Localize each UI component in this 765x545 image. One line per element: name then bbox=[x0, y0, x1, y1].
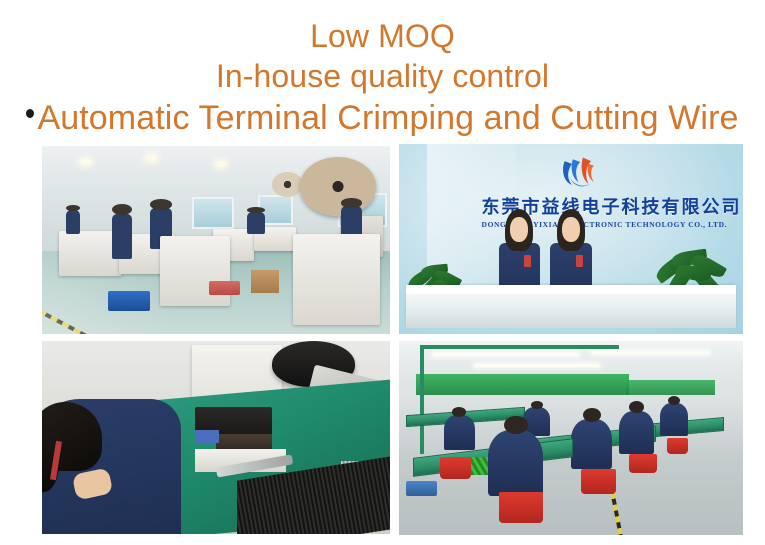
green-shelf-panel bbox=[416, 374, 629, 395]
fluorescent-tube bbox=[475, 364, 599, 367]
assembly-worker bbox=[619, 411, 653, 454]
ceiling-lamp-icon bbox=[80, 159, 90, 165]
photo-factory-machine-workshop bbox=[42, 146, 390, 334]
worker-head bbox=[583, 408, 601, 422]
red-stool bbox=[629, 454, 657, 473]
worker-head bbox=[668, 396, 680, 405]
blue-parts-bin bbox=[108, 291, 150, 312]
worker-head bbox=[629, 401, 644, 413]
red-stool bbox=[667, 438, 688, 454]
slide-root: Low MOQ In-house quality control Automat… bbox=[0, 0, 765, 545]
name-badge bbox=[576, 255, 583, 266]
worker-head bbox=[531, 401, 543, 409]
wire-reel bbox=[272, 172, 303, 196]
worker-operator bbox=[42, 399, 181, 534]
worker-head bbox=[452, 407, 466, 417]
window bbox=[192, 197, 234, 229]
assembly-worker bbox=[571, 419, 612, 469]
wire-reel bbox=[300, 157, 377, 215]
red-stool bbox=[499, 492, 544, 523]
scene-reception: 东莞市益线电子科技有限公司 DONGGUAN YIXIAN ELECTRONIC… bbox=[399, 144, 743, 334]
blue-parts-bin bbox=[406, 481, 437, 497]
worker-head bbox=[504, 416, 528, 434]
counter-top-edge bbox=[406, 285, 736, 295]
red-stool bbox=[581, 469, 615, 494]
worker bbox=[112, 214, 133, 259]
scene-assembly-line bbox=[399, 341, 743, 535]
scene-workshop bbox=[42, 146, 390, 334]
ceiling-lamp-icon bbox=[216, 161, 226, 167]
worker-head bbox=[341, 198, 362, 207]
blue-connector bbox=[195, 430, 219, 444]
bench-frame-rail bbox=[420, 345, 620, 349]
reception-counter bbox=[406, 285, 736, 329]
company-logo-icon bbox=[550, 152, 608, 198]
worker bbox=[66, 210, 80, 234]
assembly-worker bbox=[660, 403, 688, 436]
red-stool bbox=[440, 457, 471, 478]
ceiling-lamp-icon bbox=[146, 155, 156, 161]
worker-head bbox=[150, 199, 173, 210]
bench-frame-post bbox=[420, 345, 424, 454]
worker-head bbox=[66, 205, 80, 211]
assembly-worker bbox=[488, 430, 543, 496]
assembly-worker bbox=[444, 415, 475, 450]
staff-face bbox=[562, 217, 580, 242]
photo-terminal-crimping-workstation bbox=[42, 341, 390, 534]
worker-head bbox=[247, 207, 264, 213]
scene-crimping-station bbox=[42, 341, 390, 534]
name-badge bbox=[524, 255, 531, 266]
cardboard-box bbox=[251, 270, 279, 293]
fluorescent-tube bbox=[433, 353, 577, 356]
photo-wire-harness-assembly-line bbox=[399, 341, 743, 535]
photo-grid: 东莞市益线电子科技有限公司 DONGGUAN YIXIAN ELECTRONIC… bbox=[0, 0, 765, 545]
staff-face bbox=[510, 217, 528, 242]
red-trolley bbox=[209, 281, 240, 294]
fluorescent-tube bbox=[592, 351, 709, 354]
green-shelf-panel bbox=[626, 380, 715, 396]
worker-arm bbox=[72, 468, 113, 501]
photo-company-reception-lobby: 东莞市益线电子科技有限公司 DONGGUAN YIXIAN ELECTRONIC… bbox=[399, 144, 743, 334]
crimping-machine bbox=[293, 234, 380, 324]
worker bbox=[247, 212, 264, 235]
crimping-machine bbox=[160, 236, 230, 306]
worker-head bbox=[112, 204, 133, 216]
